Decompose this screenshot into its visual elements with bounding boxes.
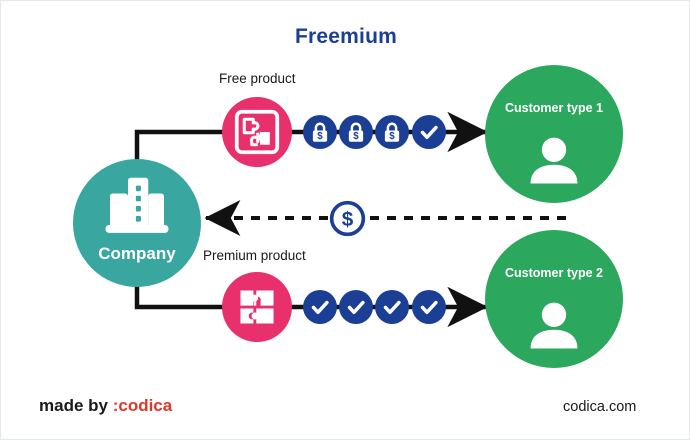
page-title: Freemium bbox=[1, 25, 690, 49]
premium-product-node[interactable] bbox=[222, 272, 292, 342]
customer-type-1-node[interactable] bbox=[485, 65, 623, 203]
made-by-credit: made by :codica bbox=[39, 396, 172, 416]
feature-badge-check-3[interactable] bbox=[339, 290, 373, 324]
feature-badge-check-4[interactable] bbox=[375, 290, 409, 324]
company-node[interactable] bbox=[73, 159, 201, 287]
codica-brand-text: :codica bbox=[113, 396, 173, 415]
free-product-node[interactable] bbox=[222, 97, 292, 167]
feature-badge-lock-3[interactable] bbox=[375, 115, 409, 149]
feature-badge-check-2[interactable] bbox=[303, 290, 337, 324]
feature-badge-check-1[interactable] bbox=[412, 115, 446, 149]
customer-type-2-label: Customer type 2 bbox=[491, 266, 617, 280]
codica-site-text: codica.com bbox=[563, 399, 636, 415]
company-label: Company bbox=[74, 244, 200, 264]
premium-product-label: Premium product bbox=[203, 248, 306, 263]
diagram-canvas: $ $ bbox=[0, 0, 690, 440]
free-product-circle[interactable] bbox=[222, 97, 292, 167]
payment-dollar-coin[interactable] bbox=[332, 203, 364, 235]
dollar-coin-icon bbox=[332, 203, 364, 235]
premium-product-circle[interactable] bbox=[222, 272, 292, 342]
feature-badge-lock-2[interactable] bbox=[339, 115, 373, 149]
freemium-diagram: $ $ bbox=[1, 1, 690, 440]
made-by-text: made by bbox=[39, 396, 113, 415]
customer-type-1-label: Customer type 1 bbox=[491, 101, 617, 115]
feature-badge-lock-1[interactable] bbox=[303, 115, 337, 149]
free-product-label: Free product bbox=[219, 71, 296, 86]
customer-type-2-node[interactable] bbox=[485, 230, 623, 368]
feature-badge-check-5[interactable] bbox=[412, 290, 446, 324]
